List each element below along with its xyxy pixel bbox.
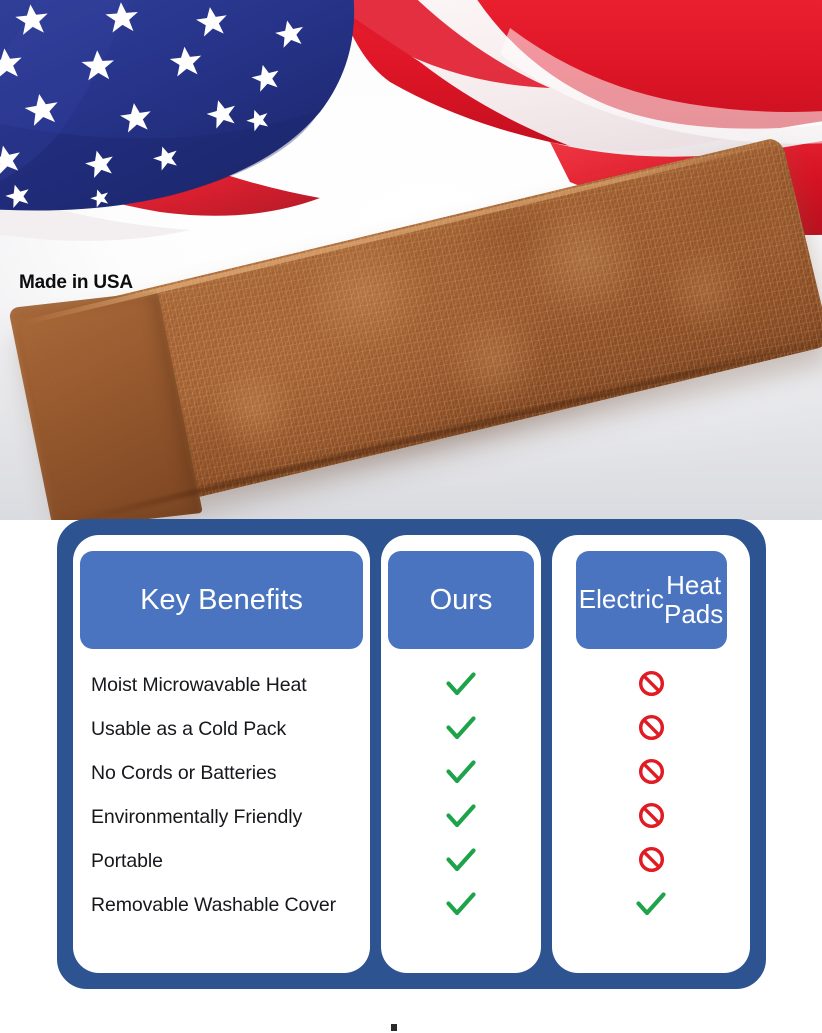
column-key-benefits: Key Benefits Moist Microwavable Heat Usa… <box>73 535 370 973</box>
ours-marks-list <box>381 649 541 963</box>
ours-mark-check-icon <box>381 751 541 795</box>
benefit-row-label: Moist Microwavable Heat <box>73 663 370 707</box>
column-electric-heat-pads: Electric Heat Pads <box>552 535 750 973</box>
ours-mark-check-icon <box>381 795 541 839</box>
ours-mark-check-icon <box>381 663 541 707</box>
column-ours: Ours <box>381 535 541 973</box>
bottom-artifact-speck <box>391 1024 397 1031</box>
made-in-usa-caption: Made in USA <box>19 272 133 294</box>
electric-mark-prohibited-icon <box>552 663 750 707</box>
header-line-1: Electric <box>579 585 664 614</box>
benefits-comparison-table: Key Benefits Moist Microwavable Heat Usa… <box>57 519 766 989</box>
electric-marks-list <box>552 649 750 963</box>
electric-mark-prohibited-icon <box>552 707 750 751</box>
column-header-key-benefits: Key Benefits <box>80 551 363 649</box>
electric-mark-prohibited-icon <box>552 751 750 795</box>
electric-mark-prohibited-icon <box>552 839 750 883</box>
header-line-2: Heat Pads <box>664 571 723 629</box>
benefit-row-label: No Cords or Batteries <box>73 751 370 795</box>
electric-mark-prohibited-icon <box>552 795 750 839</box>
benefit-row-label: Environmentally Friendly <box>73 795 370 839</box>
column-header-ours: Ours <box>388 551 534 649</box>
benefit-row-label: Removable Washable Cover <box>73 883 370 927</box>
electric-mark-check-icon <box>552 883 750 927</box>
ours-mark-check-icon <box>381 839 541 883</box>
ours-mark-check-icon <box>381 707 541 751</box>
benefit-row-label: Usable as a Cold Pack <box>73 707 370 751</box>
product-photo-area: Made in USA <box>0 0 822 520</box>
column-header-electric-heat-pads: Electric Heat Pads <box>576 551 727 649</box>
benefit-row-label: Portable <box>73 839 370 883</box>
benefit-labels-list: Moist Microwavable Heat Usable as a Cold… <box>73 649 370 963</box>
ours-mark-check-icon <box>381 883 541 927</box>
